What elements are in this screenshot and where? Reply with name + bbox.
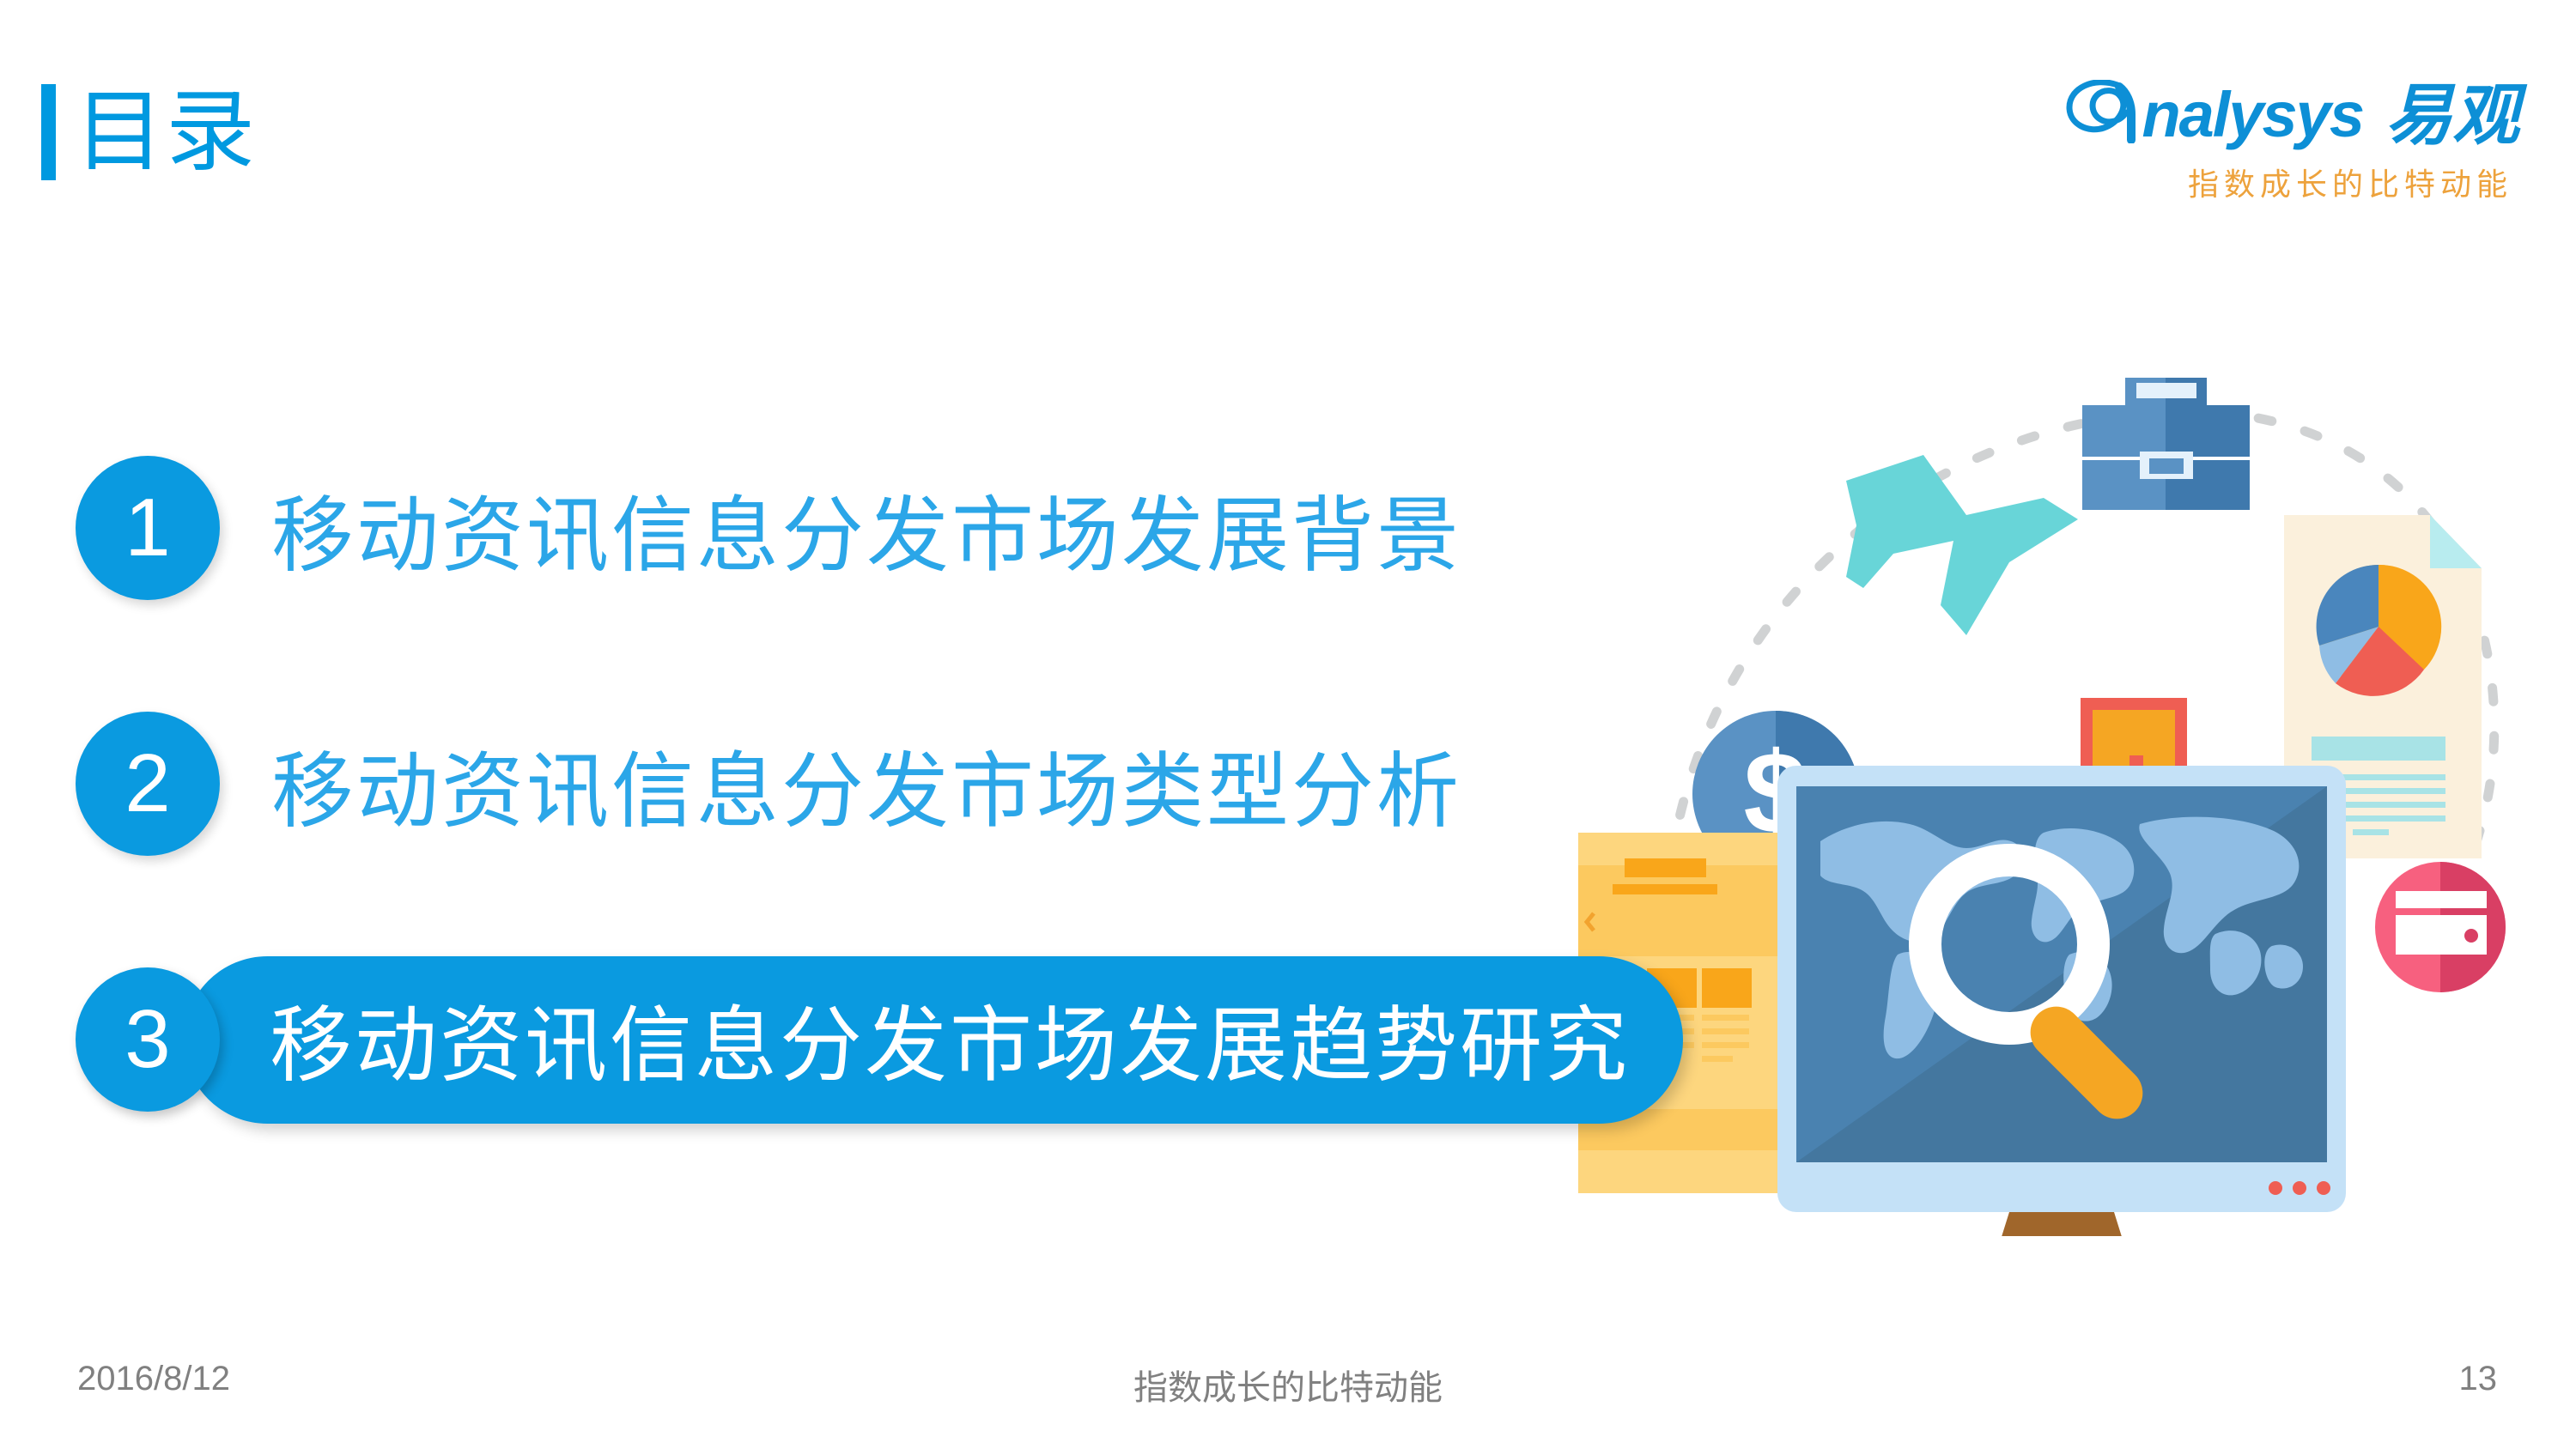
logo-wordmark: nalysys xyxy=(2142,85,2363,145)
toc-item-3[interactable]: 3 移动资讯信息分发市场发展趋势研究 xyxy=(0,958,1614,1121)
slide-root: 目录 nalysys 易观 指数成长的比特动能 1 移动资讯信息分发市场发展背景… xyxy=(0,0,2576,1449)
toc-list: 1 移动资讯信息分发市场发展背景 2 移动资讯信息分发市场类型分析 3 移动资讯… xyxy=(0,446,1614,1121)
toc-item-1[interactable]: 1 移动资讯信息分发市场发展背景 xyxy=(0,446,1614,609)
slide-footer: 2016/8/12 指数成长的比特动能 13 xyxy=(0,1360,2576,1411)
toc-label-2: 移动资讯信息分发市场类型分析 xyxy=(271,724,1461,844)
page-title: 目录 xyxy=(41,84,257,180)
information-search-illustration: $ xyxy=(1563,378,2576,1236)
toc-item-2[interactable]: 2 移动资讯信息分发市场类型分析 xyxy=(0,702,1614,865)
monitor-indicator-dots xyxy=(2269,1181,2330,1195)
analysys-swirl-icon xyxy=(2066,80,2140,143)
airplane-icon xyxy=(1846,455,2078,635)
logo-tagline: 指数成长的比特动能 xyxy=(2064,160,2519,204)
logo-wordmark-row: nalysys 易观 xyxy=(2064,76,2519,155)
logo-wordmark-cn: 易观 xyxy=(2385,83,2519,147)
title-accent-bar xyxy=(41,84,56,180)
brand-logo: nalysys 易观 指数成长的比特动能 xyxy=(2064,76,2519,204)
footer-center-text: 指数成长的比特动能 xyxy=(0,1360,2576,1410)
toc-badge-3: 3 xyxy=(76,967,220,1112)
page-title-text: 目录 xyxy=(75,88,257,177)
slide-header: 目录 nalysys 易观 指数成长的比特动能 xyxy=(0,0,2576,258)
monitor-world-map xyxy=(1777,766,2377,1236)
footer-page-number: 13 xyxy=(2459,1360,2498,1398)
toc-badge-1: 1 xyxy=(76,456,220,600)
toc-label-3: 移动资讯信息分发市场发展趋势研究 xyxy=(184,956,1683,1124)
credit-card-icon xyxy=(2375,862,2506,992)
toc-label-1: 移动资讯信息分发市场发展背景 xyxy=(271,469,1461,588)
toc-badge-2: 2 xyxy=(76,712,220,856)
briefcase-icon xyxy=(2082,378,2250,510)
